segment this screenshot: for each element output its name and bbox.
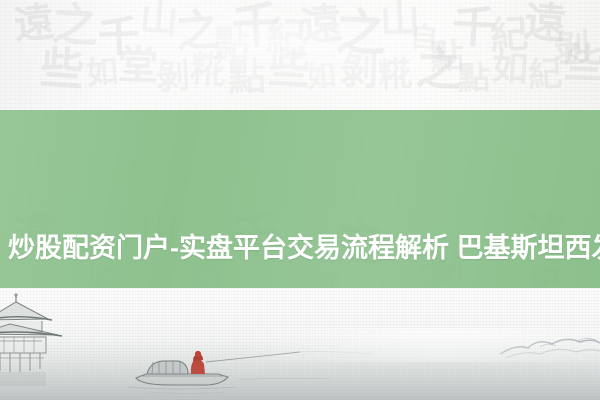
calligraphy-glyph: 些 — [39, 47, 86, 94]
calligraphy-glyph: 遠 — [12, 2, 56, 46]
calligraphy-glyph: 剝 — [553, 29, 590, 66]
calligraphy-glyph: 千 — [451, 5, 497, 51]
calligraphy-glyph: 糀 — [188, 50, 227, 89]
calligraphy-glyph: 紀 — [265, 17, 308, 60]
mist-overlay — [240, 328, 600, 362]
headline-band: 遠山千之點遠如糀如之紀 炒股配资门户-实盘平台交易流程解析 巴基斯坦西发 生客车… — [0, 110, 600, 288]
calligraphy-glyph: 點 — [429, 39, 465, 75]
headline-text: 炒股配资门户-实盘平台交易流程解析 巴基斯坦西发 生客车交通事故 已致20东谈主… — [8, 158, 600, 288]
calligraphy-glyph: 紀 — [489, 15, 530, 56]
calligraphy-glyph: 糀 — [377, 57, 413, 93]
calligraphy-glyph: 紀 — [527, 57, 563, 93]
calligraphy-glyph: 堂 — [117, 45, 158, 86]
calligraphy-glyph-layer: 遠之千山之點千紀遠之山自點千紀遠剝些如堂剝糀點些如剝糀之點如紀些 — [0, 0, 600, 110]
calligraphy-glyph: 剝 — [339, 51, 378, 90]
calligraphy-glyph: 山 — [138, 0, 179, 40]
headline-line-1: 炒股配资门户-实盘平台交易流程解析 巴基斯坦西发 — [8, 230, 600, 266]
calligraphy-glyph: 些 — [267, 47, 311, 91]
calligraphy-glyph: 遠 — [522, 0, 568, 46]
calligraphy-glyph: 如 — [491, 49, 529, 87]
share-card-poster: 遠之千山之點千紀遠之山自點千紀遠剝些如堂剝糀點些如剝糀之點如紀些 遠山千之點遠如… — [0, 0, 600, 400]
calligraphy-glyph: 自 — [409, 23, 440, 54]
painting-artwork — [0, 288, 600, 400]
calligraphy-glyph: 之 — [51, 1, 99, 49]
calligraphy-glyph: 之 — [335, 7, 387, 59]
pavilion-reflection — [0, 372, 46, 386]
calligraphy-banner: 遠之千山之點千紀遠之山自點千紀遠剝些如堂剝糀點些如剝糀之點如紀些 — [0, 0, 600, 110]
calligraphy-glyph: 點 — [213, 25, 250, 62]
calligraphy-glyph: 千 — [97, 15, 140, 58]
calligraphy-glyph: 千 — [231, 1, 281, 51]
calligraphy-glyph: 如 — [84, 54, 119, 89]
calligraphy-glyph: 剝 — [155, 59, 191, 95]
calligraphy-glyph: 如 — [305, 61, 338, 94]
calligraphy-glyph: 點 — [227, 57, 266, 96]
calligraphy-glyph: 遠 — [298, 2, 344, 48]
calligraphy-glyph: 些 — [563, 43, 600, 84]
calligraphy-glyph: 之 — [175, 9, 222, 56]
calligraphy-glyph: 山 — [379, 0, 420, 41]
ink-wash-painting — [0, 288, 600, 400]
calligraphy-glyph: 點 — [457, 61, 490, 94]
calligraphy-glyph: 之 — [415, 45, 463, 93]
